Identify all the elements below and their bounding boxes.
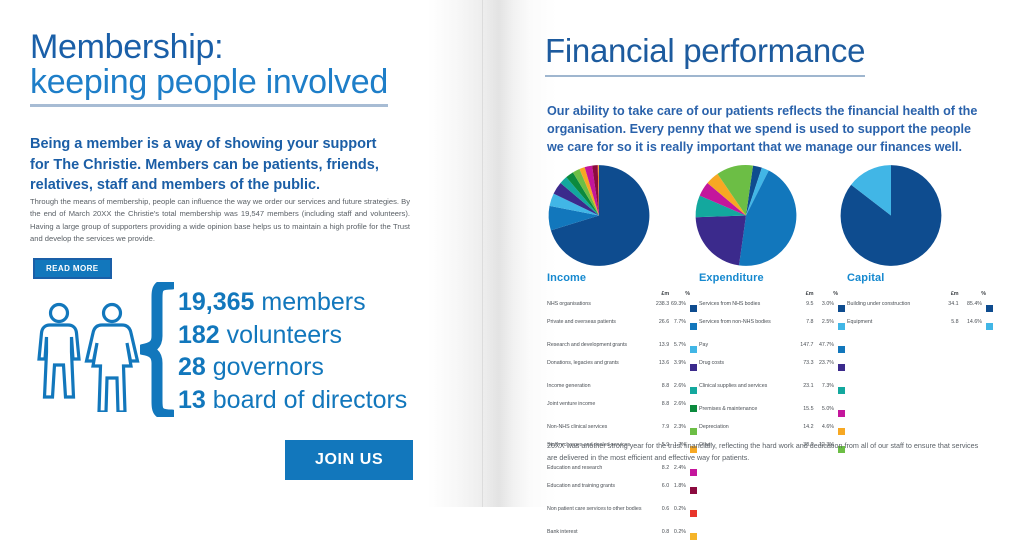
row-swatch-cell bbox=[690, 381, 699, 399]
row-label: Building under construction bbox=[847, 299, 944, 317]
row-percent: 5.7% bbox=[669, 340, 690, 358]
row-percent: 14.6% bbox=[959, 317, 986, 335]
col-amount: £m bbox=[796, 291, 813, 299]
table-row: Building under construction34.185.4% bbox=[847, 299, 995, 317]
row-swatch-cell bbox=[690, 481, 699, 499]
stat-row: 182 volunteers bbox=[178, 319, 438, 352]
stat-label: governors bbox=[213, 353, 324, 381]
row-amount: 5.8 bbox=[944, 317, 959, 335]
row-percent: 3.9% bbox=[669, 358, 690, 376]
membership-title-line1: Membership: bbox=[30, 30, 430, 65]
magazine-spread: Membership: keeping people involved Bein… bbox=[0, 0, 1015, 507]
row-swatch-cell bbox=[838, 299, 847, 317]
table-row: Bank interest0.80.2% bbox=[547, 527, 699, 545]
col-percent: % bbox=[959, 291, 986, 299]
table-row: Non-NHS clinical services7.92.3% bbox=[547, 422, 699, 440]
legend-swatch bbox=[690, 346, 697, 353]
curly-brace-decoration bbox=[140, 282, 174, 422]
pie-chart-row bbox=[545, 163, 985, 268]
stat-row: 28 governors bbox=[178, 351, 438, 384]
row-swatch-cell bbox=[838, 422, 847, 440]
row-amount: 8.8 bbox=[655, 381, 670, 399]
legend-swatch bbox=[690, 428, 697, 435]
legend-swatch bbox=[690, 364, 697, 371]
row-amount: 0.8 bbox=[655, 527, 670, 545]
col-percent: % bbox=[669, 291, 690, 299]
col-label bbox=[847, 291, 944, 299]
membership-lead-paragraph: Being a member is a way of showing your … bbox=[30, 134, 390, 196]
row-percent: 3.0% bbox=[814, 299, 838, 317]
row-label: Services from NHS bodies bbox=[699, 299, 796, 317]
membership-title: Membership: keeping people involved bbox=[30, 30, 430, 107]
income-table-body: NHS organisations238.369.3%Private and o… bbox=[547, 299, 699, 545]
row-amount: 23.1 bbox=[796, 381, 813, 399]
capital-table-body: Building under construction34.185.4%Equi… bbox=[847, 299, 995, 335]
col-percent: % bbox=[814, 291, 838, 299]
table-row: Private and overseas patients26.67.7% bbox=[547, 317, 699, 335]
table-row: Drug costs73.323.7% bbox=[699, 358, 847, 376]
capital-table-heading: Capital bbox=[847, 272, 995, 284]
row-amount: 7.8 bbox=[796, 317, 813, 335]
expenditure-table: Expenditure £m % Services from NHS bodie… bbox=[699, 272, 847, 458]
row-label: Donations, legacies and grants bbox=[547, 358, 655, 376]
legend-swatch bbox=[690, 510, 697, 517]
stat-row: 13 board of directors bbox=[178, 384, 438, 417]
row-label: NHS organisations bbox=[547, 299, 655, 317]
legend-swatch bbox=[690, 323, 697, 330]
row-swatch-cell bbox=[986, 299, 995, 317]
male-female-icon bbox=[36, 302, 141, 412]
legend-swatch bbox=[838, 323, 845, 330]
table-row: Depreciation14.24.6% bbox=[699, 422, 847, 440]
row-swatch-cell bbox=[690, 340, 699, 358]
left-page: Membership: keeping people involved Bein… bbox=[0, 0, 455, 507]
capital-pie-svg bbox=[837, 163, 945, 268]
row-swatch-cell bbox=[838, 358, 847, 376]
stat-label: volunteers bbox=[227, 321, 342, 349]
row-swatch-cell bbox=[838, 404, 847, 422]
row-label: Private and overseas patients bbox=[547, 317, 655, 335]
row-percent: 7.3% bbox=[814, 381, 838, 399]
stat-value: 19,365 bbox=[178, 288, 254, 316]
row-amount: 14.2 bbox=[796, 422, 813, 440]
row-swatch-cell bbox=[690, 399, 699, 417]
col-amount: £m bbox=[655, 291, 670, 299]
row-percent: 4.6% bbox=[814, 422, 838, 440]
row-amount: 6.0 bbox=[655, 481, 670, 499]
row-amount: 13.9 bbox=[655, 340, 670, 358]
legend-swatch bbox=[690, 487, 697, 494]
pie-chart-income bbox=[545, 163, 653, 273]
row-percent: 0.2% bbox=[669, 527, 690, 545]
legend-swatch bbox=[838, 387, 845, 394]
expenditure-pie-svg bbox=[692, 163, 800, 268]
row-swatch-cell bbox=[690, 299, 699, 317]
table-row: Pay147.747.7% bbox=[699, 340, 847, 358]
legend-swatch bbox=[690, 469, 697, 476]
row-label: Education and research bbox=[547, 463, 655, 481]
row-amount: 147.7 bbox=[796, 340, 813, 358]
col-amount: £m bbox=[944, 291, 959, 299]
row-percent: 69.3% bbox=[669, 299, 690, 317]
row-swatch-cell bbox=[838, 381, 847, 399]
table-row: Donations, legacies and grants13.63.9% bbox=[547, 358, 699, 376]
capital-table: Capital £m % Building under construction… bbox=[847, 272, 995, 335]
right-page: Financial performance Our ability to tak… bbox=[505, 0, 1015, 507]
row-amount: 73.3 bbox=[796, 358, 813, 376]
row-label: Drug costs bbox=[699, 358, 796, 376]
legend-swatch bbox=[838, 428, 845, 435]
legend-swatch bbox=[690, 305, 697, 312]
financial-tables: Income £m % NHS organisations238.369.3%P… bbox=[547, 272, 997, 437]
stat-row: 19,365 members bbox=[178, 286, 438, 319]
table-row: Services from non-NHS bodies7.82.5% bbox=[699, 317, 847, 335]
row-label: Non-NHS clinical services bbox=[547, 422, 655, 440]
legend-swatch bbox=[690, 405, 697, 412]
stat-label: board of directors bbox=[213, 386, 408, 414]
membership-title-line2: keeping people involved bbox=[30, 65, 388, 106]
row-amount: 15.5 bbox=[796, 404, 813, 422]
income-pie-svg bbox=[545, 163, 653, 268]
financial-performance-title: Financial performance bbox=[545, 32, 865, 77]
stat-label: members bbox=[261, 288, 365, 316]
table-row: Income generation8.82.6% bbox=[547, 381, 699, 399]
row-label: Services from non-NHS bodies bbox=[699, 317, 796, 335]
legend-swatch bbox=[838, 305, 845, 312]
row-percent: 2.6% bbox=[669, 381, 690, 399]
row-label: Bank interest bbox=[547, 527, 655, 545]
income-table-heading: Income bbox=[547, 272, 699, 284]
income-table: Income £m % NHS organisations238.369.3%P… bbox=[547, 272, 699, 545]
membership-stats: 19,365 members 182 volunteers 28 governo… bbox=[178, 286, 438, 416]
row-amount: 13.6 bbox=[655, 358, 670, 376]
row-swatch-cell bbox=[690, 422, 699, 440]
table-row: Clinical supplies and services23.17.3% bbox=[699, 381, 847, 399]
legend-swatch bbox=[690, 533, 697, 540]
row-percent: 85.4% bbox=[959, 299, 986, 317]
stat-value: 28 bbox=[178, 353, 206, 381]
row-label: Income generation bbox=[547, 381, 655, 399]
row-label: Clinical supplies and services bbox=[699, 381, 796, 399]
row-amount: 7.9 bbox=[655, 422, 670, 440]
row-percent: 2.5% bbox=[814, 317, 838, 335]
table-row: Services from NHS bodies9.53.0% bbox=[699, 299, 847, 317]
row-percent: 47.7% bbox=[814, 340, 838, 358]
expenditure-table-heading: Expenditure bbox=[699, 272, 847, 284]
legend-swatch bbox=[838, 346, 845, 353]
pie-slice bbox=[696, 216, 746, 266]
row-swatch-cell bbox=[690, 527, 699, 545]
brace-icon bbox=[140, 282, 174, 417]
row-swatch-cell bbox=[838, 317, 847, 335]
row-label: Research and development grants bbox=[547, 340, 655, 358]
row-amount: 26.6 bbox=[655, 317, 670, 335]
table-row: Education and training grants6.01.8% bbox=[547, 481, 699, 499]
row-swatch-cell bbox=[690, 317, 699, 335]
row-percent: 2.4% bbox=[669, 463, 690, 481]
read-more-button[interactable]: READ MORE bbox=[33, 258, 112, 279]
row-swatch-cell bbox=[838, 340, 847, 358]
row-percent: 5.0% bbox=[814, 404, 838, 422]
row-swatch-cell bbox=[690, 463, 699, 481]
table-row: Research and development grants13.95.7% bbox=[547, 340, 699, 358]
col-label bbox=[547, 291, 655, 299]
legend-swatch bbox=[986, 305, 993, 312]
row-label: Joint venture income bbox=[547, 399, 655, 417]
financial-lead-paragraph: Our ability to take care of our patients… bbox=[547, 103, 983, 157]
people-icons bbox=[36, 302, 141, 417]
col-label bbox=[699, 291, 796, 299]
stat-value: 13 bbox=[178, 386, 206, 414]
row-amount: 34.1 bbox=[944, 299, 959, 317]
row-percent: 23.7% bbox=[814, 358, 838, 376]
table-row: NHS organisations238.369.3% bbox=[547, 299, 699, 317]
row-label: Education and training grants bbox=[547, 481, 655, 499]
row-swatch-cell bbox=[690, 358, 699, 376]
row-label: Pay bbox=[699, 340, 796, 358]
row-percent: 7.7% bbox=[669, 317, 690, 335]
table-row: Joint venture income8.82.6% bbox=[547, 399, 699, 417]
row-percent: 1.8% bbox=[669, 481, 690, 499]
membership-body-paragraph: Through the means of membership, people … bbox=[30, 196, 410, 245]
row-label: Premises & maintenance bbox=[699, 404, 796, 422]
row-percent: 2.3% bbox=[669, 422, 690, 440]
legend-swatch bbox=[690, 387, 697, 394]
legend-swatch bbox=[986, 323, 993, 330]
row-swatch-cell bbox=[986, 317, 995, 335]
row-label: Depreciation bbox=[699, 422, 796, 440]
financial-footnote: 20XX was another strong year for the tru… bbox=[547, 440, 983, 463]
table-row: Equipment5.814.6% bbox=[847, 317, 995, 335]
table-row: Education and research8.22.4% bbox=[547, 463, 699, 481]
pie-chart-expenditure bbox=[692, 163, 800, 273]
row-amount: 8.8 bbox=[655, 399, 670, 417]
legend-swatch bbox=[838, 364, 845, 371]
row-percent: 2.6% bbox=[669, 399, 690, 417]
table-row: Premises & maintenance15.55.0% bbox=[699, 404, 847, 422]
legend-swatch bbox=[838, 410, 845, 417]
stat-value: 182 bbox=[178, 321, 220, 349]
row-amount: 238.3 bbox=[655, 299, 670, 317]
row-amount: 9.5 bbox=[796, 299, 813, 317]
join-us-button[interactable]: JOIN US bbox=[285, 440, 413, 480]
expenditure-table-body: Services from NHS bodies9.53.0%Services … bbox=[699, 299, 847, 458]
row-label: Equipment bbox=[847, 317, 944, 335]
pie-chart-capital bbox=[837, 163, 945, 273]
row-amount: 8.2 bbox=[655, 463, 670, 481]
